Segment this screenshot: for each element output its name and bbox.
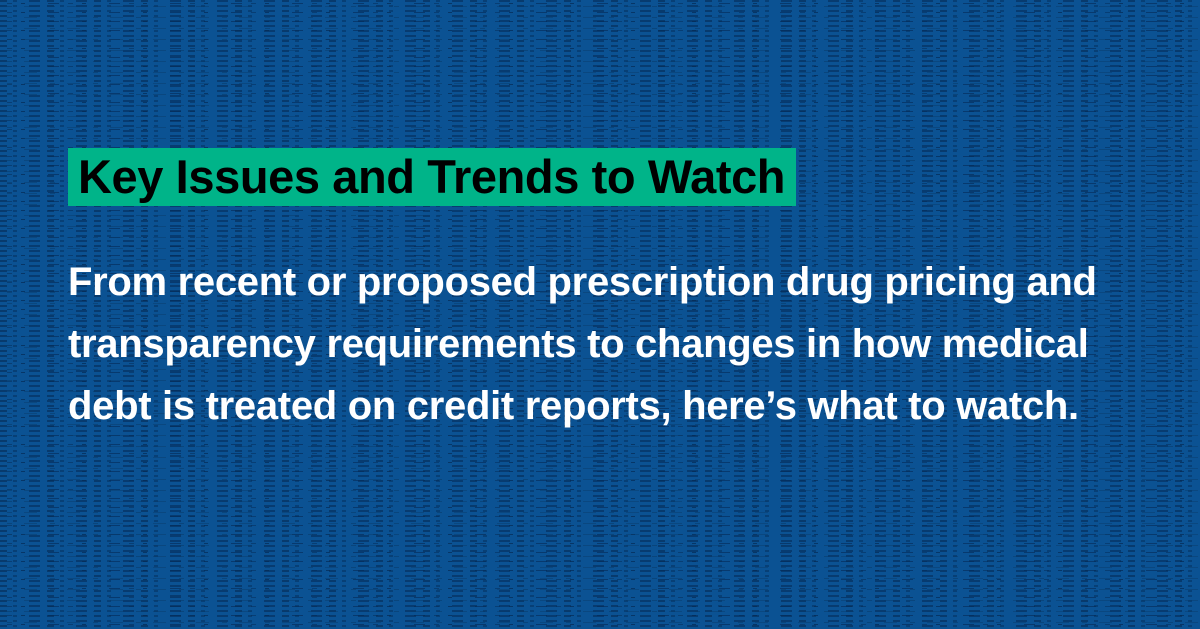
body-line-1: From recent or proposed prescription dru…: [68, 251, 1148, 313]
headline-text: Key Issues and Trends to Watch: [68, 148, 796, 206]
body-copy: From recent or proposed prescription dru…: [68, 251, 1148, 437]
content-area: Key Issues and Trends to Watch From rece…: [0, 0, 1200, 629]
headline-container: Key Issues and Trends to Watch: [68, 148, 796, 206]
body-line-2: transparency requirements to changes in …: [68, 313, 1148, 375]
graphic-canvas: Key Issues and Trends to Watch From rece…: [0, 0, 1200, 629]
body-line-3: debt is treated on credit reports, here’…: [68, 375, 1148, 437]
